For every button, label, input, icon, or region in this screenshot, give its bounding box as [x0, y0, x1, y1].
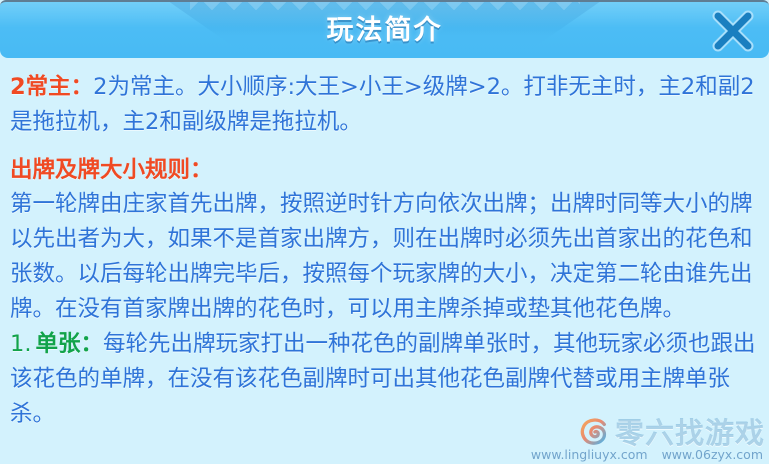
watermark-url-primary: www.lingliuyx.com: [531, 447, 648, 462]
dialog-header: 玩法简介: [0, 0, 769, 58]
rule-trump-heading: 2常主：: [10, 74, 93, 100]
list-item-body: 每轮先出牌玩家打出一种花色的副牌单张时，其他玩家必须也跟出该花色的单牌，在没有该…: [10, 331, 756, 427]
list-item-term: 单张：: [35, 331, 103, 357]
list-item: 1.单张：每轮先出牌玩家打出一种花色的副牌单张时，其他玩家必须也跟出该花色的单牌…: [10, 327, 757, 432]
rule-play-heading: 出牌及牌大小规则：: [10, 154, 757, 187]
list-item-number: 1.: [10, 331, 35, 357]
watermark-url-secondary: www.06zyx.com: [662, 447, 763, 462]
dialog-content[interactable]: 2常主：2为常主。大小顺序:大王>小王>级牌>2。打非无主时，主2和副2是拖拉机…: [0, 58, 769, 464]
rule-trump-paragraph: 2常主：2为常主。大小顺序:大王>小王>级牌>2。打非无主时，主2和副2是拖拉机…: [10, 70, 757, 140]
dialog-title: 玩法简介: [0, 8, 769, 47]
watermark-urls: www.lingliuyx.com www.06zyx.com: [527, 447, 765, 462]
close-icon: [709, 8, 757, 54]
close-button[interactable]: [709, 8, 757, 54]
rule-trump-body: 2为常主。大小顺序:大王>小王>级牌>2。打非无主时，主2和副2是拖拉机，主2和…: [10, 74, 755, 135]
section-spacer: [10, 140, 757, 154]
rule-play-body: 第一轮牌由庄家首先出牌，按照逆时针方向依次出牌；出牌时同等大小的牌以先出者为大，…: [10, 187, 757, 327]
game-intro-dialog: 玩法简介 2常主：2为常主。大小顺序:大王>小王>级牌>2。打非无主时，主2和副…: [0, 0, 769, 464]
